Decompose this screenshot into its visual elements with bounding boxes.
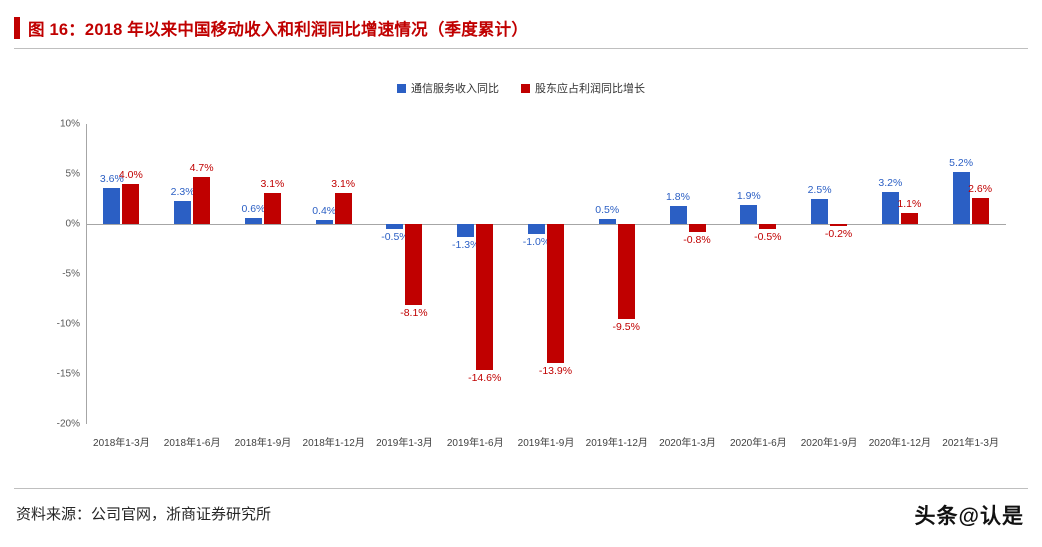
chart-page: 图 16：2018 年以来中国移动收入和利润同比增速情况（季度累计） 通信服务收… <box>0 0 1042 547</box>
bar-group: 1.9%-0.5% <box>723 124 794 424</box>
x-axis-tick-label: 2020年1-6月 <box>730 434 787 449</box>
bar-value-label: 0.5% <box>595 204 619 216</box>
chart-legend: 通信服务收入同比股东应占利润同比增长 <box>0 80 1042 96</box>
bar[interactable] <box>476 224 493 370</box>
bar[interactable] <box>122 184 139 224</box>
bar[interactable] <box>901 213 918 224</box>
legend-swatch-icon <box>521 84 530 93</box>
bar-group: -0.5%-8.1% <box>369 124 440 424</box>
bar-value-label: 2.6% <box>968 183 992 195</box>
bar-value-label: -0.5% <box>754 231 781 243</box>
bar-value-label: 2.3% <box>171 186 195 198</box>
bar[interactable] <box>528 224 545 234</box>
bar[interactable] <box>811 199 828 224</box>
bar-group: 2.5%-0.2% <box>794 124 865 424</box>
bar[interactable] <box>193 177 210 224</box>
bar-value-label: 3.1% <box>331 178 355 190</box>
bar[interactable] <box>599 219 616 224</box>
legend-item: 通信服务收入同比 <box>397 80 499 96</box>
bar-value-label: -8.1% <box>400 307 427 319</box>
y-axis-tick-label: -10% <box>57 319 80 330</box>
bar[interactable] <box>618 224 635 319</box>
y-axis-tick-label: -15% <box>57 369 80 380</box>
bar[interactable] <box>335 193 352 224</box>
x-axis-tick-label: 2021年1-3月 <box>942 434 999 449</box>
watermark-label: 头条@认是 <box>915 500 1024 530</box>
bar[interactable] <box>953 172 970 224</box>
bar[interactable] <box>547 224 564 363</box>
bar-group: -1.0%-13.9% <box>511 124 582 424</box>
bar[interactable] <box>245 218 262 224</box>
bar-value-label: 0.4% <box>312 205 336 217</box>
bar-group: 0.5%-9.5% <box>581 124 652 424</box>
bar-value-label: -0.8% <box>683 234 710 246</box>
bar[interactable] <box>830 224 847 226</box>
bar-group: 3.6%4.0% <box>86 124 157 424</box>
x-axis-tick-label: 2019年1-3月 <box>376 434 433 449</box>
x-axis-tick-label: 2020年1-12月 <box>869 434 931 449</box>
legend-label: 通信服务收入同比 <box>411 80 499 96</box>
bar[interactable] <box>759 224 776 229</box>
y-axis: 10%5%0%-5%-10%-15%-20% <box>46 104 80 424</box>
bar-value-label: 1.1% <box>897 198 921 210</box>
bar-group: 2.3%4.7% <box>157 124 228 424</box>
bar[interactable] <box>882 192 899 224</box>
bar-value-label: -9.5% <box>613 321 640 333</box>
bar[interactable] <box>670 206 687 224</box>
legend-swatch-icon <box>397 84 406 93</box>
legend-label: 股东应占利润同比增长 <box>535 80 645 96</box>
bar-value-label: 5.2% <box>949 157 973 169</box>
legend-item: 股东应占利润同比增长 <box>521 80 645 96</box>
bar-value-label: 3.2% <box>878 177 902 189</box>
y-axis-tick-label: -20% <box>57 419 80 430</box>
bar-group: 3.2%1.1% <box>864 124 935 424</box>
footer-divider <box>14 488 1028 489</box>
bar[interactable] <box>972 198 989 224</box>
bar[interactable] <box>689 224 706 232</box>
y-axis-tick-label: 5% <box>66 169 80 180</box>
bar-value-label: 2.5% <box>808 184 832 196</box>
x-axis-tick-label: 2019年1-12月 <box>586 434 648 449</box>
bar[interactable] <box>405 224 422 305</box>
x-axis-tick-label: 2018年1-12月 <box>303 434 365 449</box>
chart-area: 10%5%0%-5%-10%-15%-20% 3.6%4.0%2.3%4.7%0… <box>0 104 1042 474</box>
bar[interactable] <box>103 188 120 224</box>
bar-group: 0.6%3.1% <box>228 124 299 424</box>
bar[interactable] <box>457 224 474 237</box>
y-axis-tick-label: 0% <box>66 219 80 230</box>
x-axis-tick-label: 2020年1-9月 <box>801 434 858 449</box>
bar-value-label: 0.6% <box>241 203 265 215</box>
bar[interactable] <box>174 201 191 224</box>
plot-area: 3.6%4.0%2.3%4.7%0.6%3.1%0.4%3.1%-0.5%-8.… <box>86 124 1006 424</box>
figure-title-bar: 图 16：2018 年以来中国移动收入和利润同比增速情况（季度累计） <box>0 8 1042 48</box>
source-note: 资料来源：公司官网，浙商证券研究所 <box>16 503 271 524</box>
bar-group: 5.2%2.6% <box>935 124 1006 424</box>
x-axis-tick-label: 2020年1-3月 <box>659 434 716 449</box>
page-title: 图 16：2018 年以来中国移动收入和利润同比增速情况（季度累计） <box>28 16 528 40</box>
x-axis-tick-label: 2018年1-3月 <box>93 434 150 449</box>
bar-value-label: 3.1% <box>260 178 284 190</box>
x-axis-tick-label: 2018年1-9月 <box>235 434 292 449</box>
title-accent-bar <box>14 17 20 39</box>
bar-group: 1.8%-0.8% <box>652 124 723 424</box>
x-axis-tick-label: 2019年1-6月 <box>447 434 504 449</box>
bar-value-label: -13.9% <box>539 365 572 377</box>
bar[interactable] <box>316 220 333 224</box>
x-axis: 2018年1-3月2018年1-6月2018年1-9月2018年1-12月201… <box>86 434 1006 454</box>
bar-value-label: 4.0% <box>119 169 143 181</box>
bar-value-label: -14.6% <box>468 372 501 384</box>
x-axis-tick-label: 2019年1-9月 <box>518 434 575 449</box>
bar-value-label: 1.9% <box>737 190 761 202</box>
x-axis-tick-label: 2018年1-6月 <box>164 434 221 449</box>
bar-value-label: 4.7% <box>190 162 214 174</box>
bar[interactable] <box>386 224 403 229</box>
bar[interactable] <box>740 205 757 224</box>
y-axis-tick-label: -5% <box>62 269 80 280</box>
title-divider <box>14 48 1028 49</box>
bar-value-label: -0.2% <box>825 228 852 240</box>
bar-group: 0.4%3.1% <box>298 124 369 424</box>
bar-group: -1.3%-14.6% <box>440 124 511 424</box>
bar[interactable] <box>264 193 281 224</box>
bar-value-label: 1.8% <box>666 191 690 203</box>
y-axis-tick-label: 10% <box>60 119 80 130</box>
